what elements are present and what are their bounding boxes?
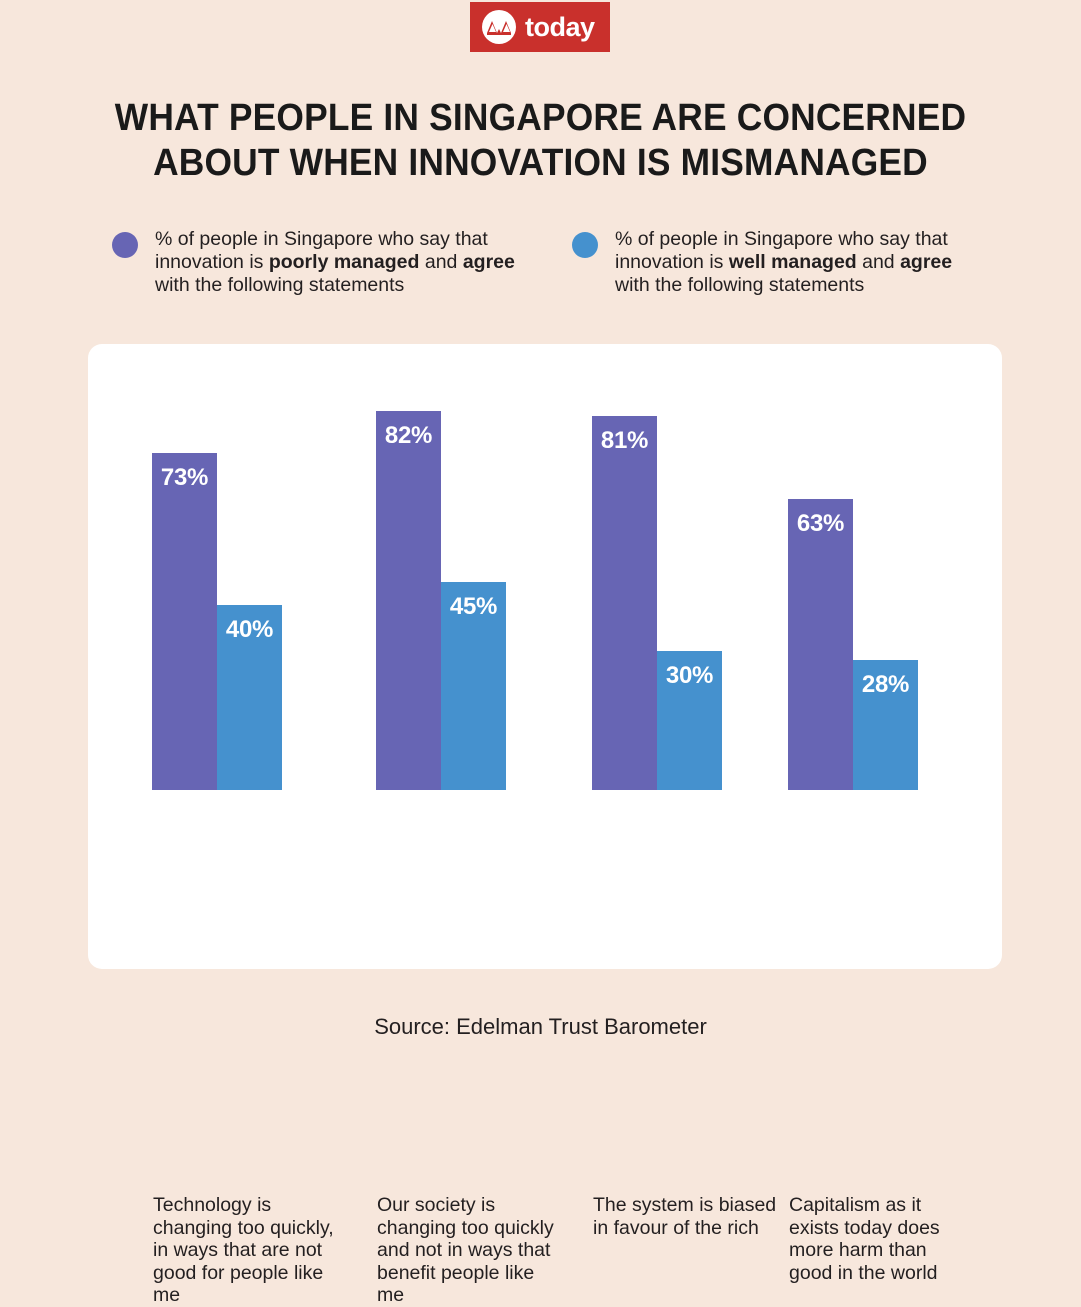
bar-value-label: 81%: [592, 427, 657, 455]
legend-text-post: with the following statements: [155, 274, 404, 296]
legend-text-bold-1: poorly managed: [269, 251, 420, 273]
legend-item-label: % of people in Singapore who say that in…: [155, 228, 532, 297]
bar-value-label: 28%: [853, 671, 918, 699]
bar-value-label: 40%: [217, 616, 282, 644]
bar-blue: 30%: [657, 651, 722, 790]
bar-value-label: 30%: [657, 662, 722, 690]
legend-item-poorly-managed: % of people in Singapore who say that in…: [112, 228, 532, 297]
legend-item-label: % of people in Singapore who say that in…: [615, 228, 992, 297]
bar-purple: 82%: [376, 411, 441, 790]
page-title: WHAT PEOPLE IN SINGAPORE ARE CONCERNED A…: [38, 96, 1043, 186]
grouped-bar-chart: 73% 40% Technology is changing too quick…: [88, 344, 1002, 969]
category-label: Technology is changing too quickly, in w…: [153, 1194, 339, 1307]
brand-wordmark: today: [525, 14, 595, 41]
bar-blue: 40%: [217, 605, 282, 790]
today-m-logo-icon: [482, 10, 516, 44]
legend-item-well-managed: % of people in Singapore who say that in…: [572, 228, 992, 297]
bar-pair: 82% 45%: [376, 390, 506, 790]
bar-pair: 63% 28%: [788, 390, 918, 790]
chart-card: 73% 40% Technology is changing too quick…: [88, 344, 1002, 969]
bar-value-label: 45%: [441, 593, 506, 621]
category-label: The system is biased in favour of the ri…: [593, 1194, 779, 1239]
bar-pair: 81% 30%: [592, 390, 722, 790]
legend-text-bold-2: agree: [900, 251, 952, 273]
bar-purple: 63%: [788, 499, 853, 790]
bar-value-label: 63%: [788, 510, 853, 538]
category-label: Capitalism as it exists today does more …: [789, 1194, 975, 1284]
legend-text-bold-2: agree: [463, 251, 515, 273]
brand-logo: today: [470, 2, 610, 52]
bar-blue: 45%: [441, 582, 506, 790]
source-note: Source: Edelman Trust Barometer: [0, 1014, 1081, 1040]
bar-purple: 73%: [152, 453, 217, 790]
legend-text-post: with the following statements: [615, 274, 864, 296]
page-title-line-2: ABOUT WHEN INNOVATION IS MISMANAGED: [38, 141, 1043, 186]
bar-pair: 73% 40%: [152, 390, 282, 790]
legend-text-mid: and: [419, 251, 462, 273]
legend-text-mid: and: [857, 251, 900, 273]
legend-text-bold-1: well managed: [729, 251, 857, 273]
page-title-line-1: WHAT PEOPLE IN SINGAPORE ARE CONCERNED: [38, 96, 1043, 141]
category-label: Our society is changing too quickly and …: [377, 1194, 563, 1307]
chart-legend: % of people in Singapore who say that in…: [112, 228, 992, 297]
bar-value-label: 82%: [376, 422, 441, 450]
legend-swatch-purple-icon: [112, 232, 138, 258]
bar-purple: 81%: [592, 416, 657, 790]
bar-blue: 28%: [853, 660, 918, 790]
legend-swatch-blue-icon: [572, 232, 598, 258]
bar-value-label: 73%: [152, 464, 217, 492]
